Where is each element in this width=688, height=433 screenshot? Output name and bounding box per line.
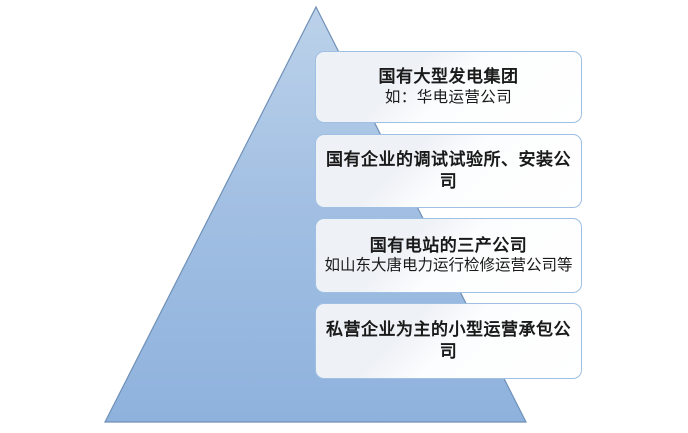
pyramid-level-1-title: 国有大型发电集团 <box>379 66 519 88</box>
pyramid-level-1-box[interactable]: 国有大型发电集团 如：华电运营公司 <box>315 51 582 123</box>
diagram-canvas: 国有大型发电集团 如：华电运营公司 国有企业的调试试验所、安装公司 国有电站的三… <box>0 0 688 433</box>
pyramid-level-4-title: 私营企业为主的小型运营承包公司 <box>324 319 574 363</box>
pyramid-level-2-box[interactable]: 国有企业的调试试验所、安装公司 <box>315 134 582 208</box>
pyramid-level-3-title: 国有电站的三产公司 <box>370 235 528 257</box>
pyramid-level-2-title: 国有企业的调试试验所、安装公司 <box>324 149 574 193</box>
pyramid-level-3-subtitle: 如山东大唐电力运行检修运营公司等 <box>324 256 572 276</box>
pyramid-level-3-box[interactable]: 国有电站的三产公司 如山东大唐电力运行检修运营公司等 <box>315 218 582 293</box>
pyramid-level-1-subtitle: 如：华电运营公司 <box>385 88 512 108</box>
pyramid-level-4-box[interactable]: 私营企业为主的小型运营承包公司 <box>315 303 582 379</box>
